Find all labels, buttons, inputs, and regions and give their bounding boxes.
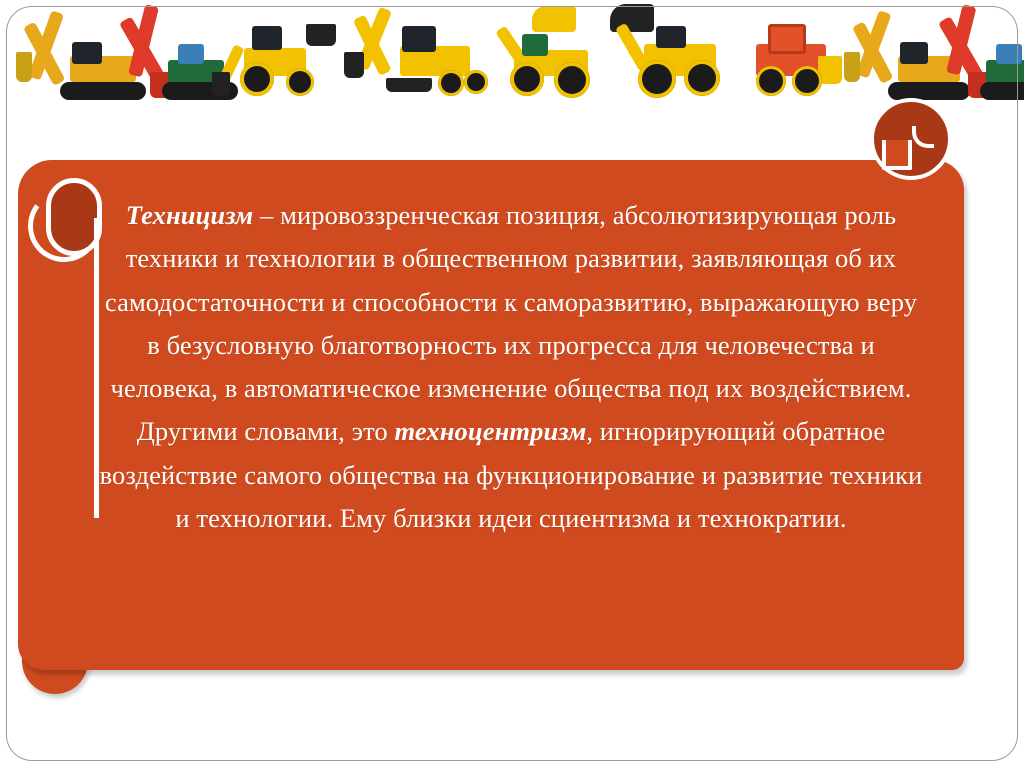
machine-red-crawler-excavator-2	[930, 0, 1024, 104]
slide-body-text: Техницизм – мировоззренческая позиция, а…	[96, 194, 926, 540]
machine-yellow-wheeled-excavator	[330, 0, 490, 104]
term-tehnotsentrizm: техноцентризм	[394, 416, 586, 446]
construction-machinery-photo-strip	[0, 0, 1024, 108]
term-tehnitsizm: Техницизм	[126, 200, 254, 230]
machine-yellow-front-loader	[600, 0, 730, 104]
machine-orange-skid-steer-loader	[740, 0, 850, 104]
machine-yellow-backhoe-loader	[210, 0, 340, 104]
body-text-part-1: – мировоззренческая позиция, абсолютизир…	[105, 200, 917, 446]
presentation-slide: Техницизм – мировоззренческая позиция, а…	[0, 0, 1024, 767]
content-scroll-panel: Техницизм – мировоззренческая позиция, а…	[18, 160, 964, 695]
scroll-curl-right-icon	[870, 98, 956, 186]
